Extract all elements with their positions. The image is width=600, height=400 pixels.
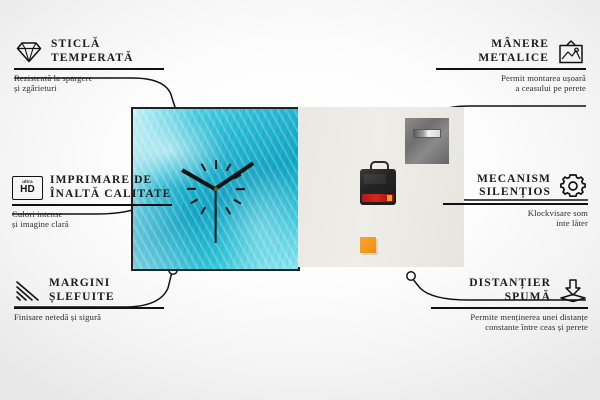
hanger-slot: [413, 129, 441, 138]
feature-hd-printing: ultra HD IMPRIMARE DE ÎNALTĂ CALITATE Cu…: [12, 174, 172, 230]
feature-divider: [443, 203, 588, 205]
diamond-icon: [14, 40, 44, 64]
picture-hanger-icon: [556, 39, 586, 65]
feature-divider: [14, 68, 164, 70]
infographic-canvas: STICLĂ TEMPERATĂ Rezistentă la spargere …: [0, 0, 600, 400]
feature-subtitle: Klockvisare som inte låter: [443, 208, 588, 229]
feature-heading: ultra HD IMPRIMARE DE ÎNALTĂ CALITATE: [12, 174, 172, 201]
mechanism-hanging-loop: [370, 161, 389, 173]
battery-terminal: [387, 195, 392, 201]
metal-hanger-part: [405, 118, 449, 164]
feature-subtitle: Culori intense și imagine clară: [12, 209, 172, 230]
feature-subtitle: Rezistentă la spargere și zgârieturi: [14, 73, 164, 94]
feature-foam-spacer: DISTANȚIER SPUMĂ Permite menținerea unei…: [431, 277, 588, 333]
feature-title: MÂNERE METALICE: [478, 38, 549, 65]
feature-subtitle: Finisare netedă și sigură: [14, 312, 164, 323]
feature-heading: STICLĂ TEMPERATĂ: [14, 38, 164, 65]
feature-title: STICLĂ TEMPERATĂ: [51, 38, 134, 65]
feature-subtitle: Permite menținerea unei distanțe constan…: [431, 312, 588, 333]
clock-mechanism-part: [360, 169, 396, 205]
foam-spacer-part: [360, 237, 376, 253]
ultra-hd-badge-icon: ultra HD: [12, 176, 43, 200]
callout-endpoint-dot: [407, 272, 415, 280]
feature-subtitle: Permit montarea ușoară a ceasului pe per…: [436, 73, 586, 94]
feature-tempered-glass: STICLĂ TEMPERATĂ Rezistentă la spargere …: [14, 38, 164, 94]
feature-heading: DISTANȚIER SPUMĂ: [431, 277, 588, 304]
mechanism-body-detail: [364, 174, 386, 184]
foam-spacer-icon: [558, 278, 588, 304]
feature-divider: [12, 204, 172, 206]
clock-hand-second: [215, 189, 217, 243]
feature-title: IMPRIMARE DE ÎNALTĂ CALITATE: [50, 174, 171, 201]
feature-heading: MÂNERE METALICE: [436, 38, 586, 65]
feature-divider: [14, 307, 164, 309]
clock-back-panel: [298, 107, 464, 267]
feature-title: MARGINI ȘLEFUITE: [49, 277, 115, 304]
feature-polished-edges: MARGINI ȘLEFUITE Finisare netedă și sigu…: [14, 277, 164, 322]
beveled-edge-icon: [14, 279, 42, 303]
feature-title: MECANISM SILENȚIOS: [477, 173, 551, 200]
feature-heading: MECANISM SILENȚIOS: [443, 172, 588, 200]
feature-heading: MARGINI ȘLEFUITE: [14, 277, 164, 304]
gear-icon: [558, 172, 588, 200]
feature-silent-mechanism: MECANISM SILENȚIOS Klockvisare som inte …: [443, 172, 588, 229]
battery-part: [362, 194, 394, 202]
feature-title: DISTANȚIER SPUMĂ: [469, 277, 551, 304]
feature-divider: [436, 68, 586, 70]
feature-divider: [431, 307, 588, 309]
feature-metal-hangers: MÂNERE METALICE Permit montarea ușoară a…: [436, 38, 586, 94]
clock-hand-hub: [214, 187, 218, 191]
